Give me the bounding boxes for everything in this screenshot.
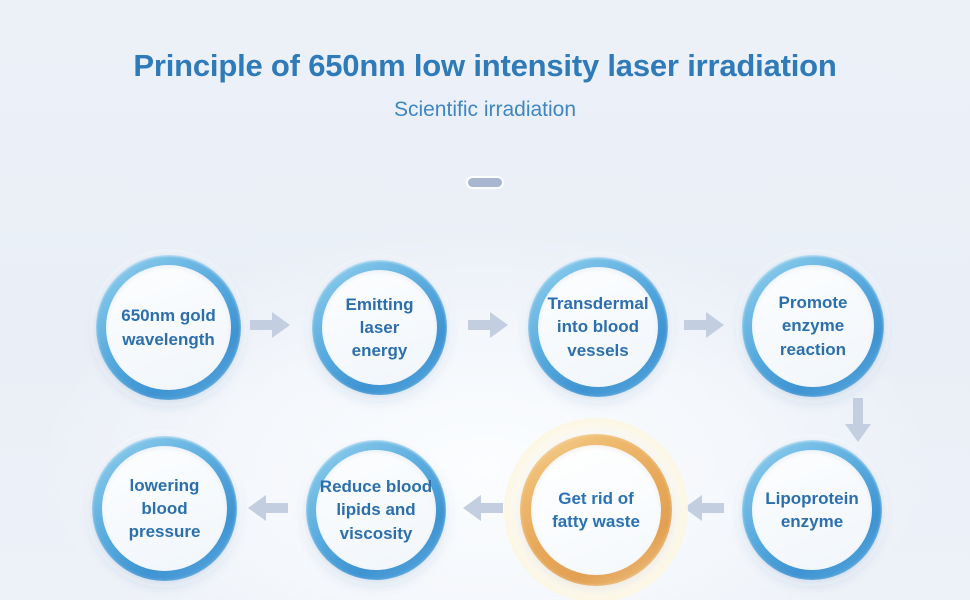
- flow-node-label: Get rid of fatty waste: [520, 487, 672, 533]
- arrow-step5-to-step6: [684, 495, 724, 521]
- flow-node-label: Reduce blood lipids and viscosity: [306, 475, 446, 544]
- arrow-step4-to-step5: [845, 398, 871, 442]
- arrow-step3-to-step4: [684, 312, 724, 338]
- infographic-canvas: Principle of 650nm low intensity laser i…: [0, 0, 970, 600]
- arrow-step2-to-step3: [468, 312, 508, 338]
- page-subtitle: Scientific irradiation: [0, 98, 970, 122]
- arrow-step1-to-step2: [250, 312, 290, 338]
- flow-node-transdermal-into-blood-vessels[interactable]: Transdermal into blood vessels: [528, 257, 668, 397]
- flow-node-label: Promote enzyme reaction: [742, 291, 884, 360]
- flow-node-get-rid-of-fatty-waste[interactable]: Get rid of fatty waste: [520, 434, 672, 586]
- flow-node-lipoprotein-enzyme[interactable]: Lipoprotein enzyme: [742, 440, 882, 580]
- flow-node-reduce-blood-lipids-and-viscosity[interactable]: Reduce blood lipids and viscosity: [306, 440, 446, 580]
- arrow-step6-to-step7: [463, 495, 503, 521]
- flow-node-label: Emitting laser energy: [312, 293, 447, 362]
- flow-node-label: Transdermal into blood vessels: [528, 292, 668, 361]
- flow-node-emitting-laser-energy[interactable]: Emitting laser energy: [312, 260, 447, 395]
- section-divider: [468, 178, 502, 187]
- page-title: Principle of 650nm low intensity laser i…: [0, 48, 970, 84]
- flow-node-label: 650nm gold wavelength: [96, 304, 241, 350]
- flow-node-label: Lipoprotein enzyme: [742, 487, 882, 533]
- flow-node-promote-enzyme-reaction[interactable]: Promote enzyme reaction: [742, 255, 884, 397]
- flow-node-650nm-gold-wavelength[interactable]: 650nm gold wavelength: [96, 255, 241, 400]
- arrow-step7-to-step8: [248, 495, 288, 521]
- flow-node-lowering-blood-pressure[interactable]: lowering blood pressure: [92, 436, 237, 581]
- flow-node-label: lowering blood pressure: [92, 474, 237, 543]
